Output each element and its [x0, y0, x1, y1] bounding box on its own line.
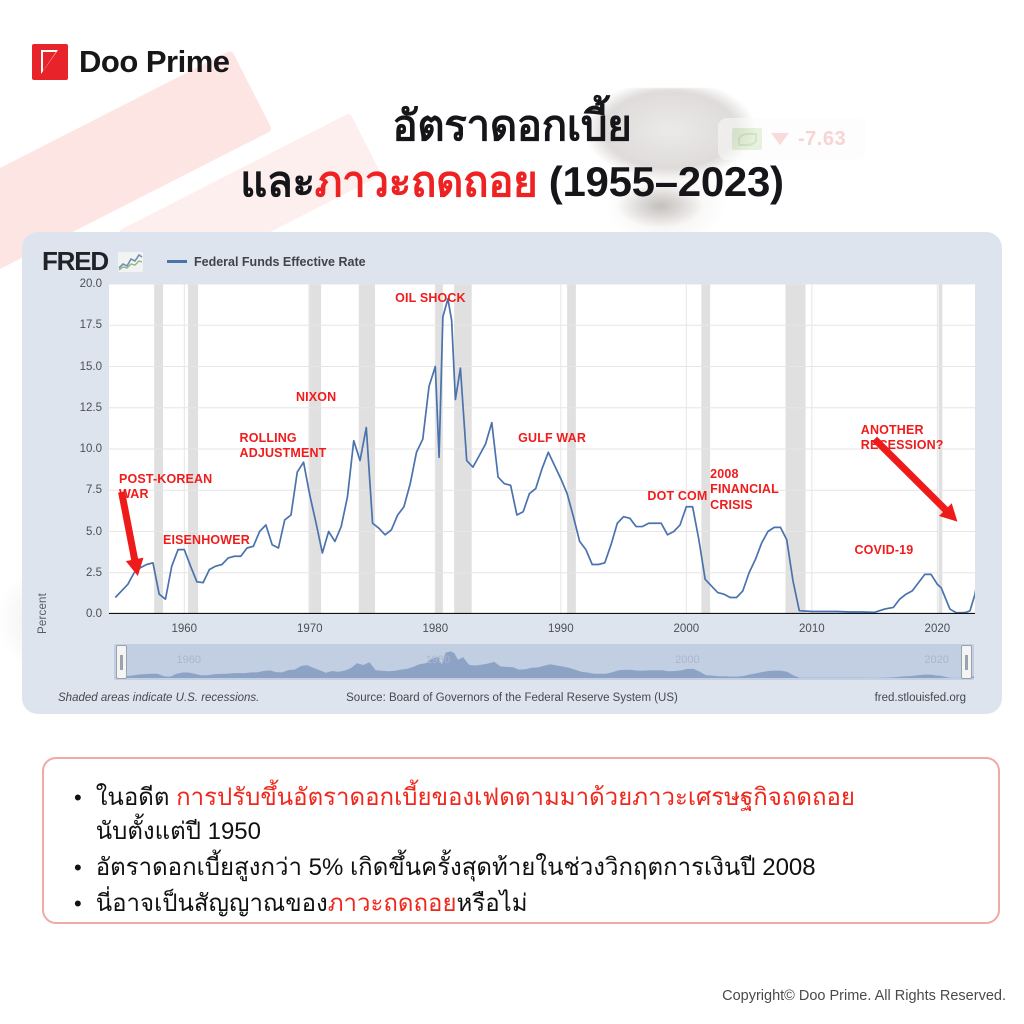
doo-prime-mark-icon [32, 44, 68, 80]
brand-logo: Doo Prime [32, 44, 230, 80]
chart-footnote-source: Source: Board of Governors of the Federa… [346, 692, 678, 704]
title-line-2: และภาวะถดถอย (1955–2023) [0, 154, 1024, 210]
key-point-highlight: การปรับขึ้นอัตราดอกเบี้ยของเฟดตามมาด้วยภ… [176, 784, 855, 811]
key-point-highlight: ภาวะถดถอย [328, 890, 457, 917]
chart-annotation: OIL SHOCK [395, 291, 466, 306]
range-slider-preview [114, 644, 974, 680]
chart-annotation: 2008 FINANCIAL CRISIS [710, 467, 779, 513]
bullet-dot-icon: • [74, 851, 82, 885]
title-line-1: อัตราดอกเบี้ย [0, 98, 1024, 154]
legend-color-swatch [167, 260, 187, 263]
chart-annotation: NIXON [296, 390, 336, 405]
key-point-item: •อัตราดอกเบี้ยสูงกว่า 5% เกิดขึ้นครั้งสุ… [74, 851, 968, 885]
y-axis-tick-label: 15.0 [80, 361, 102, 373]
x-axis-tick-label: 1990 [548, 623, 574, 635]
key-point-text: อัตราดอกเบี้ยสูงกว่า 5% เกิดขึ้นครั้งสุด… [96, 851, 816, 885]
y-axis-tick-label: 17.5 [80, 319, 102, 331]
y-axis-tick-label: 12.5 [80, 402, 102, 414]
fred-chart-card: FRED Federal Funds Effective Rate Percen… [22, 232, 1002, 714]
chart-footnote-url: fred.stlouisfed.org [875, 692, 966, 704]
title-line-2-highlight: ภาวะถดถอย [315, 158, 538, 205]
key-point-text: ในอดีต การปรับขึ้นอัตราดอกเบี้ยของเฟดตาม… [96, 781, 855, 849]
x-axis-tick-label: 1980 [423, 623, 449, 635]
key-point-suffix: หรือไม่ [457, 890, 528, 917]
y-axis-tick-label: 10.0 [80, 443, 102, 455]
range-slider-year-label: 1960 [177, 654, 201, 666]
page-title: อัตราดอกเบี้ย และภาวะถดถอย (1955–2023) [0, 98, 1024, 210]
key-point-item: •ในอดีต การปรับขึ้นอัตราดอกเบี้ยของเฟดตา… [74, 781, 968, 849]
legend-label: Federal Funds Effective Rate [194, 255, 366, 269]
chart-plot-area: 0.02.55.07.510.012.515.017.520.019601970… [109, 284, 975, 614]
x-axis-tick-label: 2010 [799, 623, 825, 635]
brand-name: Doo Prime [79, 44, 230, 80]
bullet-dot-icon: • [74, 887, 82, 921]
key-points-box: •ในอดีต การปรับขึ้นอัตราดอกเบี้ยของเฟดตา… [42, 757, 1000, 924]
y-axis-tick-label: 5.0 [86, 526, 102, 538]
key-point-suffix: นับตั้งแต่ปี 1950 [96, 818, 261, 845]
range-slider-handle-right[interactable] [961, 645, 972, 679]
x-axis-tick-label: 1960 [172, 623, 198, 635]
key-point-item: •นี่อาจเป็นสัญญาณของภาวะถดถอยหรือไม่ [74, 887, 968, 921]
chart-annotation: ANOTHER RECESSION? [861, 423, 944, 454]
range-slider-handle-left[interactable] [116, 645, 127, 679]
x-axis-tick-label: 2020 [925, 623, 951, 635]
chart-annotation: POST-KOREAN WAR [119, 472, 212, 503]
chart-legend: Federal Funds Effective Rate [167, 255, 366, 269]
chart-footnote-recessions: Shaded areas indicate U.S. recessions. [58, 692, 259, 704]
chart-annotation: DOT COM [647, 489, 707, 504]
chart-annotation: GULF WAR [518, 431, 586, 446]
fred-logo: FRED [42, 246, 108, 277]
range-slider-year-label: 1980 [426, 654, 450, 666]
copyright-text: Copyright© Doo Prime. All Rights Reserve… [722, 988, 1006, 1004]
fred-header: FRED Federal Funds Effective Rate [42, 246, 366, 277]
y-axis-tick-label: 20.0 [80, 278, 102, 290]
x-axis-tick-label: 2000 [674, 623, 700, 635]
chart-annotation: EISENHOWER [163, 533, 250, 548]
x-axis-tick-label: 1970 [297, 623, 323, 635]
bullet-dot-icon: • [74, 781, 82, 849]
range-slider-year-label: 2020 [924, 654, 948, 666]
y-axis-title: Percent [37, 593, 49, 634]
chart-annotation: ROLLING ADJUSTMENT [240, 431, 327, 462]
y-axis-tick-label: 0.0 [86, 608, 102, 620]
chart-annotation: COVID-19 [855, 543, 914, 558]
y-axis-tick-label: 7.5 [86, 484, 102, 496]
key-point-prefix: นี่อาจเป็นสัญญาณของ [96, 890, 328, 917]
chart-range-slider[interactable]: 1960198020002020 [114, 644, 974, 680]
range-slider-year-label: 2000 [675, 654, 699, 666]
title-line-2-prefix: และ [240, 158, 314, 205]
sparkline-icon [118, 252, 143, 272]
key-point-prefix: อัตราดอกเบี้ยสูงกว่า 5% เกิดขึ้นครั้งสุด… [96, 854, 816, 881]
y-axis-tick-label: 2.5 [86, 567, 102, 579]
key-point-prefix: ในอดีต [96, 784, 176, 811]
title-line-2-suffix: (1955–2023) [537, 158, 783, 205]
key-point-text: นี่อาจเป็นสัญญาณของภาวะถดถอยหรือไม่ [96, 887, 528, 921]
